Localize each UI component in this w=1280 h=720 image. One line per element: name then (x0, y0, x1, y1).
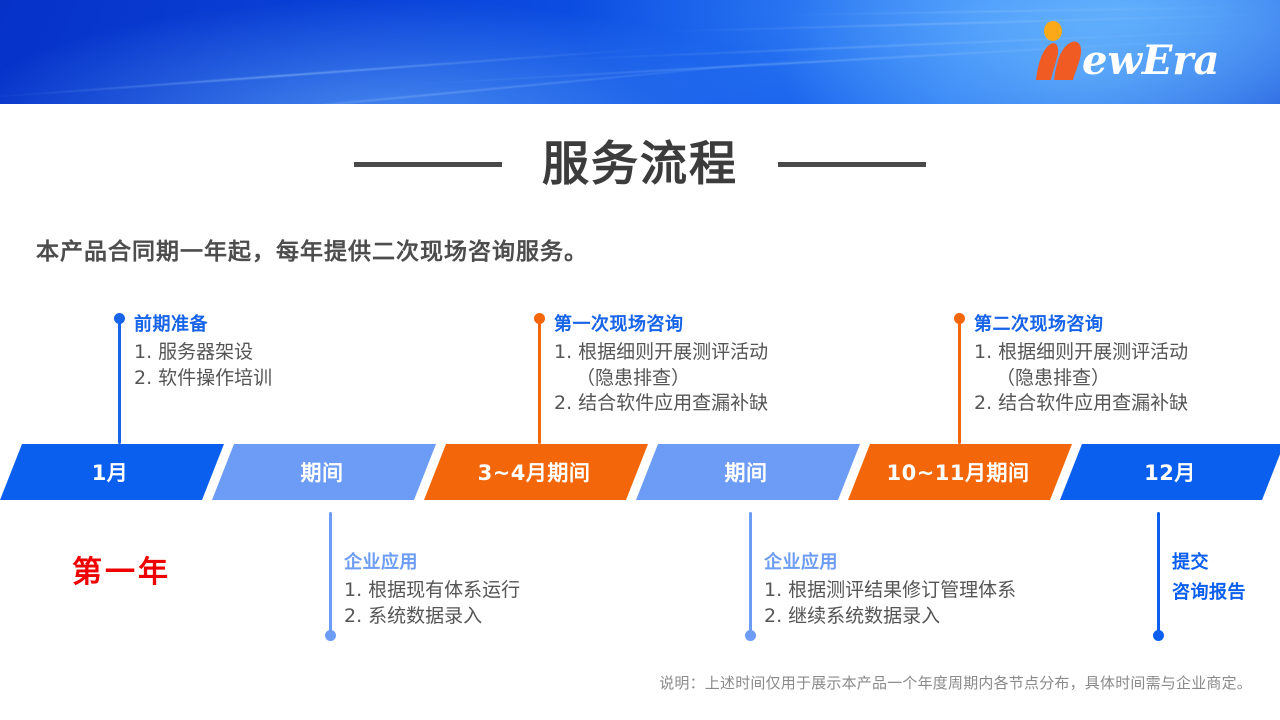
timeline-step-6[interactable]: 12月 (1060, 444, 1280, 500)
banner-streak (0, 46, 679, 101)
logo-wordmark: ewEra (1082, 37, 1218, 84)
timeline: 1月 期间 3~4月期间 期间 10~11月期间 12月 (0, 444, 1280, 500)
callout-top-3: 第二次现场咨询 1. 根据细则开展测评活动 （隐患排查） 2. 结合软件应用查漏… (974, 310, 1188, 417)
timeline-step-5[interactable]: 10~11月期间 (848, 444, 1072, 500)
connector-line-bottom-2 (749, 512, 752, 635)
callout-heading: 前期准备 (134, 310, 272, 336)
callout-line: （隐患排查） (974, 366, 1188, 392)
timeline-step-label: 3~4月期间 (478, 457, 591, 487)
connector-dot-top-1 (114, 313, 125, 324)
subtitle: 本产品合同期一年起，每年提供二次现场咨询服务。 (36, 232, 588, 266)
logo-dot-icon (1044, 21, 1062, 41)
callout-line: 1. 服务器架设 (134, 340, 272, 366)
footer-note: 说明：上述时间仅用于展示本产品一个年度周期内各节点分布，具体时间需与企业商定。 (659, 672, 1252, 693)
page-title: 服务流程 (542, 141, 738, 188)
timeline-step-label: 期间 (301, 457, 344, 487)
callout-line: 2. 继续系统数据录入 (764, 604, 1016, 630)
callout-bottom-2: 企业应用 1. 根据测评结果修订管理体系 2. 继续系统数据录入 (764, 548, 1016, 629)
callout-line: 2. 结合软件应用查漏补缺 (974, 391, 1188, 417)
connector-line-top-3 (958, 318, 961, 444)
timeline-step-label: 12月 (1144, 457, 1196, 487)
page-title-row: 服务流程 (0, 132, 1280, 196)
banner-streak (62, 51, 879, 104)
timeline-step-label: 期间 (725, 457, 768, 487)
title-rule-left (354, 162, 502, 167)
callout-heading: 提交 (1172, 548, 1246, 574)
callout-line: 2. 软件操作培训 (134, 366, 272, 392)
callout-line: 2. 系统数据录入 (344, 604, 520, 630)
callout-line: 2. 结合软件应用查漏补缺 (554, 391, 768, 417)
callout-heading-second-line: 咨询报告 (1172, 578, 1246, 604)
connector-dot-bottom-1 (325, 630, 336, 641)
callout-bottom-3: 提交 咨询报告 (1172, 548, 1246, 608)
timeline-step-3[interactable]: 3~4月期间 (424, 444, 648, 500)
timeline-step-2[interactable]: 期间 (212, 444, 436, 500)
year-marker: 第一年 (72, 547, 171, 591)
callout-top-2: 第一次现场咨询 1. 根据细则开展测评活动 （隐患排查） 2. 结合软件应用查漏… (554, 310, 768, 417)
callout-heading: 企业应用 (764, 548, 1016, 574)
connector-dot-bottom-2 (745, 630, 756, 641)
title-rule-right (778, 162, 926, 167)
timeline-step-4[interactable]: 期间 (636, 444, 860, 500)
callout-top-1: 前期准备 1. 服务器架设 2. 软件操作培训 (134, 310, 272, 391)
connector-line-bottom-1 (329, 512, 332, 635)
connector-dot-top-3 (954, 313, 965, 324)
callout-line: 1. 根据细则开展测评活动 (554, 340, 768, 366)
connector-line-bottom-3 (1157, 512, 1160, 635)
connector-dot-bottom-3 (1153, 630, 1164, 641)
timeline-step-label: 10~11月期间 (886, 457, 1029, 487)
connector-line-top-1 (118, 318, 121, 444)
callout-bottom-1: 企业应用 1. 根据现有体系运行 2. 系统数据录入 (344, 548, 520, 629)
header-banner: ewEra (0, 0, 1280, 104)
connector-line-top-2 (538, 318, 541, 444)
callout-line: 1. 根据细则开展测评活动 (974, 340, 1188, 366)
timeline-step-1[interactable]: 1月 (0, 444, 224, 500)
callout-line: 1. 根据测评结果修订管理体系 (764, 578, 1016, 604)
callout-line: （隐患排查） (554, 366, 768, 392)
callout-heading: 企业应用 (344, 548, 520, 574)
callout-line: 1. 根据现有体系运行 (344, 578, 520, 604)
timeline-step-label: 1月 (92, 457, 129, 487)
connector-dot-top-2 (534, 313, 545, 324)
newera-logo: ewEra (1018, 18, 1218, 88)
callout-heading: 第二次现场咨询 (974, 310, 1188, 336)
callout-heading: 第一次现场咨询 (554, 310, 768, 336)
